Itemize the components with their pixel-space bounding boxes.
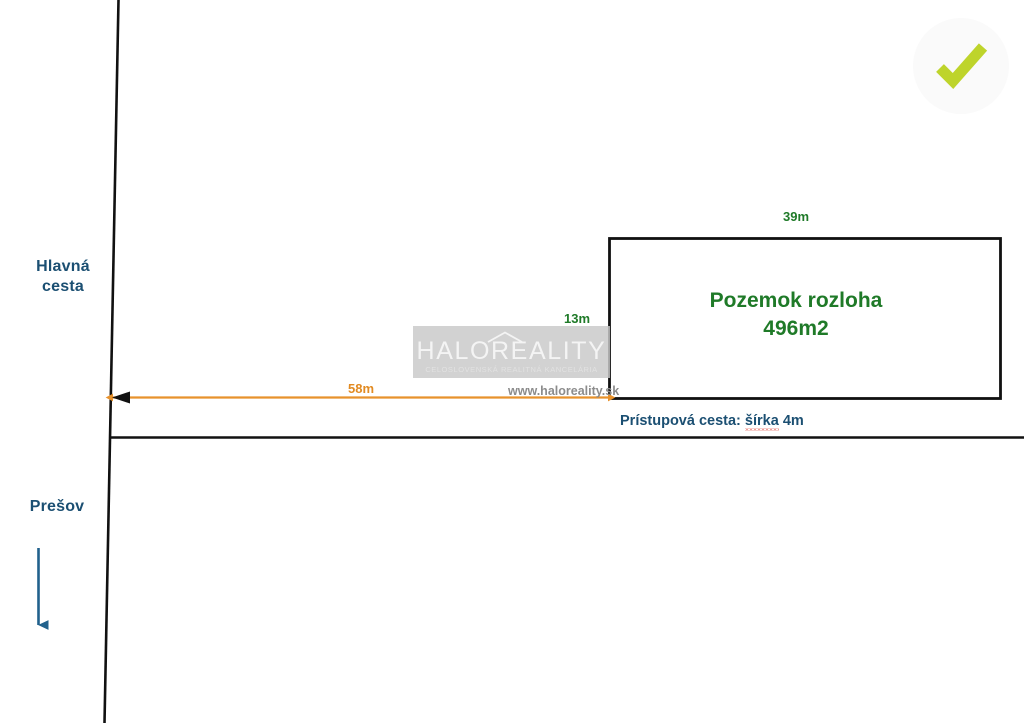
watermark-tagline: CELOSLOVENSKÁ REALITNÁ KANCELÁRIA [413,365,610,374]
label-main-road-line2: cesta [42,278,84,295]
label-access-road-spellcheck-word: šírka [745,413,779,431]
label-main-road: Hlavnácesta [20,257,106,297]
label-access-road: Prístupová cesta: šírka 4m [620,412,804,430]
label-dimension-39m: 39m [761,209,831,225]
label-direction-presov: Prešov [20,497,94,517]
label-dimension-58m: 58m [330,381,392,397]
watermark-url: www.haloreality.sk [508,384,619,400]
label-access-road-prefix: Prístupová cesta: [620,413,745,429]
watermark-brand: HALOREALITY [413,337,610,366]
site-plan-diagram: Hlavnácesta Prešov 39m 13m 58m Pozemok r… [0,0,1024,723]
label-plot-area-line1: Pozemok rozloha [710,289,883,312]
label-access-road-suffix: 4m [779,413,804,429]
label-plot-area: Pozemok rozloha496m2 [646,287,946,342]
label-main-road-line1: Hlavná [36,258,90,275]
main-road-line [105,0,119,723]
verified-badge [907,12,1015,120]
label-plot-area-line2: 496m2 [763,317,828,340]
watermark-logo-box: HALOREALITY CELOSLOVENSKÁ REALITNÁ KANCE… [413,326,610,378]
label-dimension-13m: 13m [552,311,602,327]
